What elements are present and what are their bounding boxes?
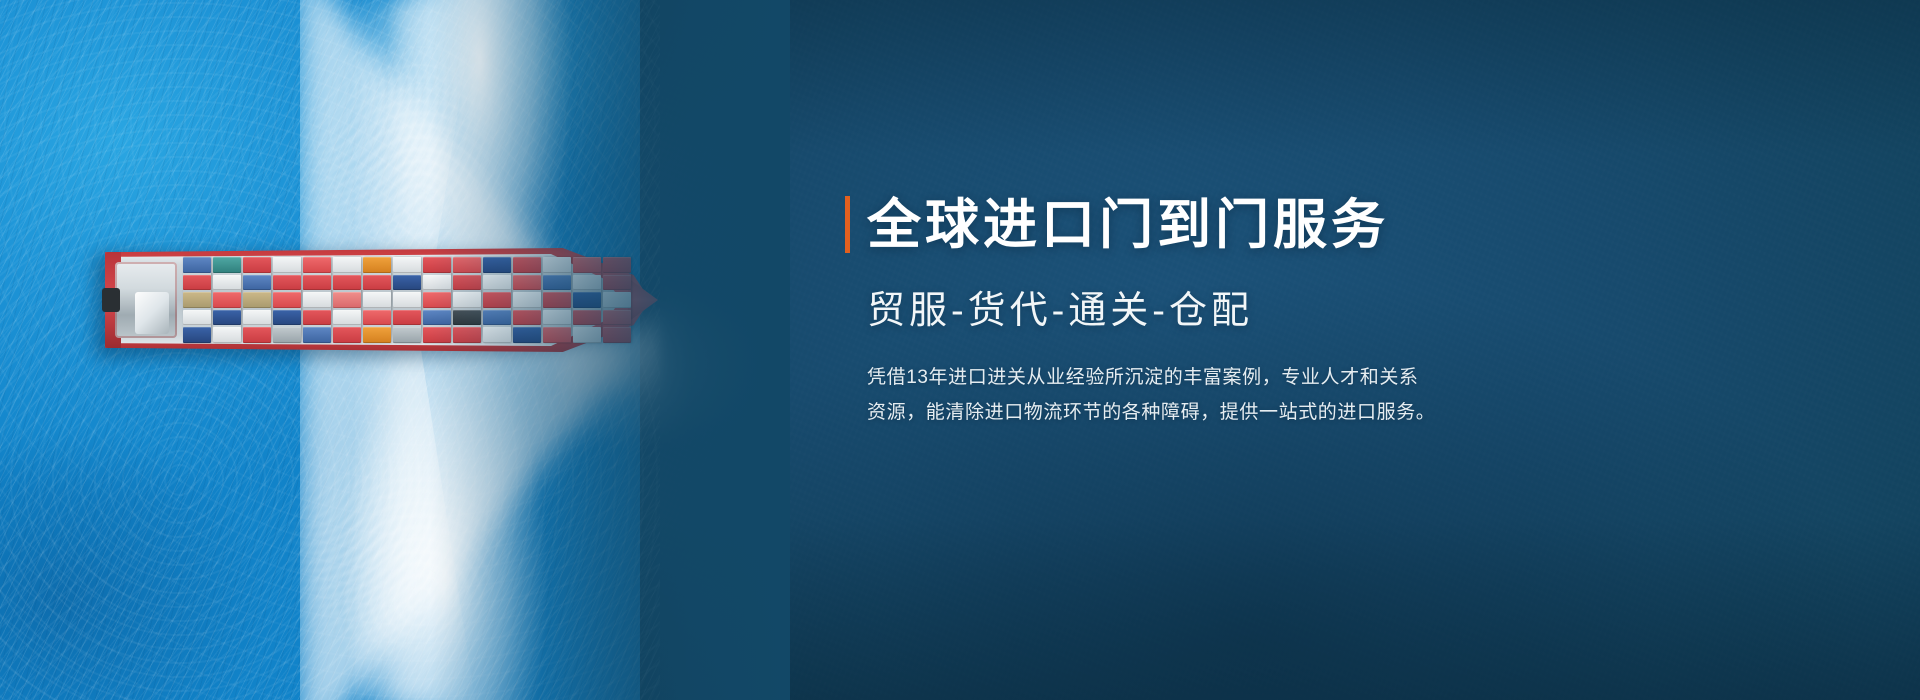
ocean-to-navy-fade (430, 0, 790, 700)
container-bay (213, 257, 241, 343)
ship-bridge-tower (135, 292, 169, 334)
ship-funnel (102, 288, 120, 312)
headline-row: 全球进口门到门服务 (845, 196, 1565, 253)
container-bay (393, 257, 421, 343)
banner-description: 凭借13年进口进关从业经验所沉淀的丰富案例，专业人才和关系 资源，能清除进口物流… (867, 360, 1567, 430)
accent-bar (845, 196, 850, 253)
ship-bridge (115, 262, 177, 338)
banner-subheadline: 贸服-货代-通关-仓配 (867, 292, 1565, 330)
hero-banner: 全球进口门到门服务 贸服-货代-通关-仓配 凭借13年进口进关从业经验所沉淀的丰… (0, 0, 1920, 700)
description-line-2: 资源，能清除进口物流环节的各种障碍，提供一站式的进口服务。 (867, 395, 1567, 430)
banner-headline: 全球进口门到门服务 (867, 198, 1389, 252)
container-bay (183, 257, 211, 343)
container-bay (363, 257, 391, 343)
container-bay (273, 257, 301, 343)
container-bay (303, 257, 331, 343)
container-bay (243, 257, 271, 343)
banner-content: 全球进口门到门服务 贸服-货代-通关-仓配 凭借13年进口进关从业经验所沉淀的丰… (845, 196, 1565, 430)
description-line-1: 凭借13年进口进关从业经验所沉淀的丰富案例，专业人才和关系 (867, 360, 1567, 395)
container-bay (333, 257, 361, 343)
